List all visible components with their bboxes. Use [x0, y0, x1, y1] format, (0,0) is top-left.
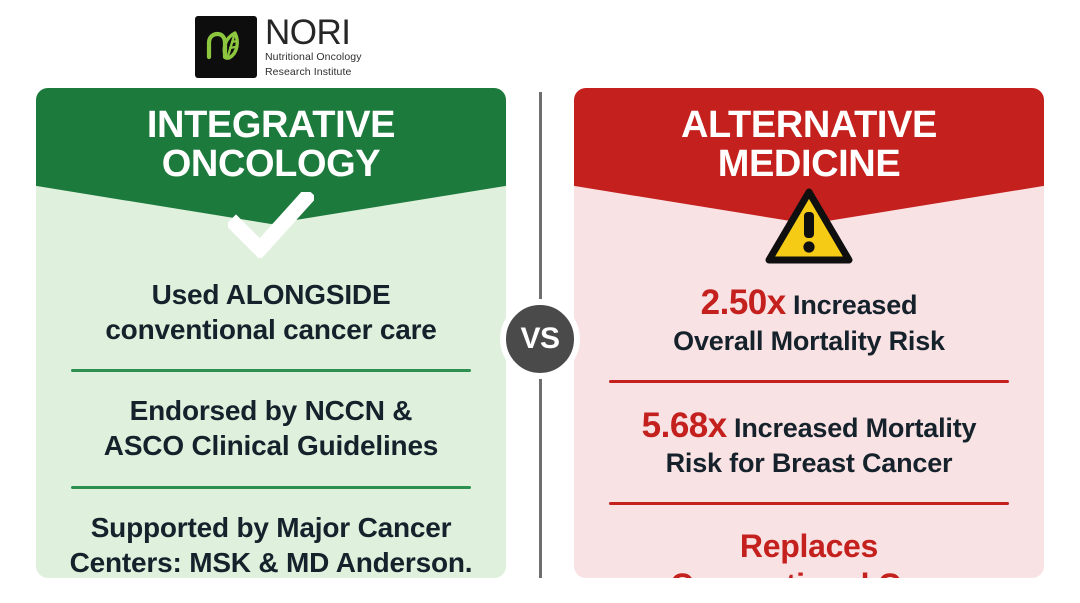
left-divider-1	[71, 369, 471, 372]
left-point-3-line2: Centers: MSK & MD Anderson.	[56, 546, 486, 578]
left-point-1: Used ALONGSIDE conventional cancer care	[56, 278, 486, 347]
logo-tagline-line1: Nutritional Oncology	[265, 51, 362, 63]
left-panel-body: Used ALONGSIDE conventional cancer care …	[36, 224, 506, 578]
right-stat-2: 5.68x Increased Mortality Risk for Breas…	[594, 405, 1024, 481]
right-panel-title-line1: ALTERNATIVE	[574, 106, 1044, 145]
left-point-1-line1: Used ALONGSIDE	[56, 278, 486, 313]
right-panel-body: 2.50x Increased Overall Mortality Risk 5…	[574, 224, 1044, 578]
right-panel-title-line2: MEDICINE	[574, 145, 1044, 184]
vs-badge: VS	[500, 299, 580, 379]
logo-tagline-line2: Research Institute	[265, 66, 362, 78]
right-stat-1-multiplier: 2.50x	[701, 283, 786, 322]
vs-label: VS	[520, 322, 559, 356]
check-icon	[228, 192, 314, 263]
leaf-sprout-icon	[195, 16, 257, 78]
right-stat-2-multiplier: 5.68x	[642, 406, 727, 445]
logo-wordmark: NORI	[265, 16, 362, 49]
alternative-medicine-panel: ALTERNATIVE MEDICINE 2.50x Increased Ove…	[574, 88, 1044, 578]
left-panel-title-line1: INTEGRATIVE	[36, 106, 506, 145]
left-panel-title: INTEGRATIVE ONCOLOGY	[36, 88, 506, 184]
right-panel-title: ALTERNATIVE MEDICINE	[574, 88, 1044, 184]
right-stat-2-line2: Risk for Breast Cancer	[594, 447, 1024, 480]
left-point-2-line1: Endorsed by NCCN &	[56, 394, 486, 429]
nori-logo: NORI Nutritional Oncology Research Insti…	[195, 16, 362, 78]
right-stat-1-label: Increased	[786, 290, 918, 320]
left-point-3-line1: Supported by Major Cancer	[56, 511, 486, 546]
warning-triangle-icon	[763, 186, 855, 271]
left-point-1-line2: conventional cancer care	[56, 313, 486, 348]
right-stat-1-line1: 2.50x Increased	[594, 282, 1024, 325]
right-conclusion-line1: Replaces	[594, 527, 1024, 566]
integrative-oncology-panel: INTEGRATIVE ONCOLOGY Used ALONGSIDE conv…	[36, 88, 506, 578]
right-stat-1-line2: Overall Mortality Risk	[594, 325, 1024, 358]
right-conclusion-line2: Conventional Care	[594, 566, 1024, 578]
left-point-3: Supported by Major Cancer Centers: MSK &…	[56, 511, 486, 578]
right-stat-2-line1: 5.68x Increased Mortality	[594, 405, 1024, 448]
right-divider-2	[609, 502, 1009, 505]
left-point-2: Endorsed by NCCN & ASCO Clinical Guideli…	[56, 394, 486, 463]
left-divider-2	[71, 486, 471, 489]
logo-text-block: NORI Nutritional Oncology Research Insti…	[265, 16, 362, 78]
right-stat-2-label: Increased Mortality	[727, 413, 977, 443]
left-panel-title-line2: ONCOLOGY	[36, 145, 506, 184]
left-point-2-line2: ASCO Clinical Guidelines	[56, 429, 486, 464]
right-divider-1	[609, 380, 1009, 383]
right-conclusion: Replaces Conventional Care	[594, 527, 1024, 578]
right-stat-1: 2.50x Increased Overall Mortality Risk	[594, 282, 1024, 358]
